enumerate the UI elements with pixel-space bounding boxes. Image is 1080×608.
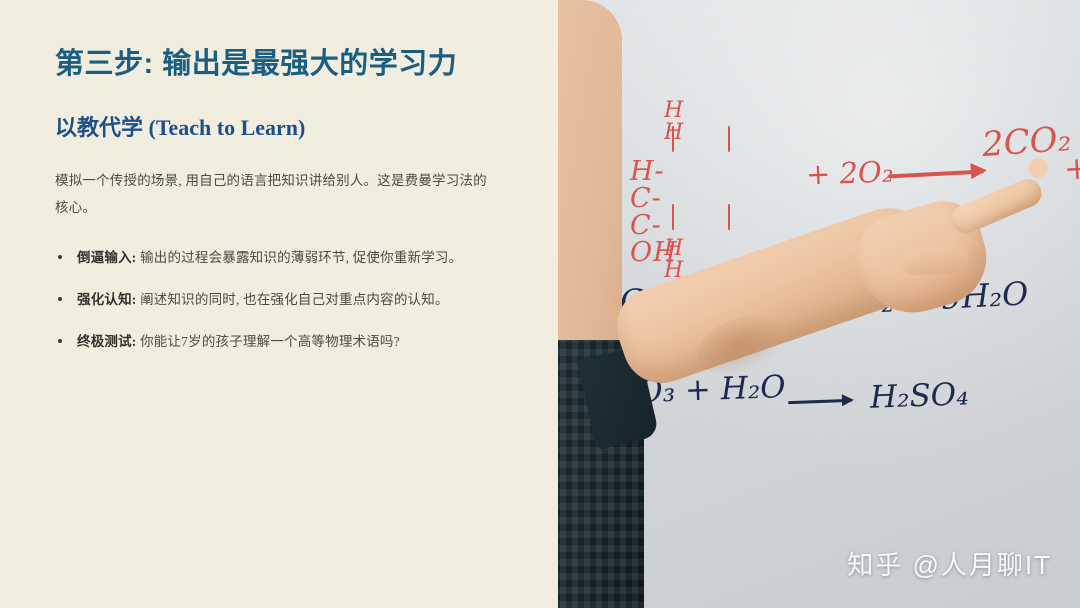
formula-red-reagent: + 2O₂ bbox=[805, 154, 894, 191]
bullet-dot-icon bbox=[58, 255, 62, 259]
page-subtitle: 以教代学 (Teach to Learn) bbox=[55, 114, 518, 143]
bullet-list: 倒逼输入: 输出的过程会暴露知识的薄弱环节, 促使你重新学习。 强化认知: 阐述… bbox=[55, 247, 518, 354]
bullet-dot-icon bbox=[58, 339, 62, 343]
list-item-text: 输出的过程会暴露知识的薄弱环节, 促使你重新学习。 bbox=[137, 250, 463, 265]
formula-red-product: 2CO₂ bbox=[981, 119, 1073, 165]
list-item-label: 强化认知: bbox=[77, 292, 137, 307]
text-panel: 第三步: 输出是最强大的学习力 以教代学 (Teach to Learn) 模拟… bbox=[0, 0, 558, 608]
list-item-text: 你能让7岁的孩子理解一个高等物理术语吗? bbox=[137, 334, 400, 349]
list-item-text: 阐述知识的同时, 也在强化自己对重点内容的认知。 bbox=[137, 292, 449, 307]
watermark: 知乎 @人月聊IT bbox=[847, 545, 1052, 582]
formula-red-trailing: + 3 bbox=[1063, 149, 1080, 188]
page-title: 第三步: 输出是最强大的学习力 bbox=[55, 46, 518, 84]
list-item-label: 终极测试: bbox=[77, 334, 137, 349]
list-item: 终极测试: 你能让7岁的孩子理解一个高等物理术语吗? bbox=[55, 331, 518, 354]
lead-paragraph: 模拟一个传授的场景, 用自己的语言把知识讲给别人。这是费曼学习法的核心。 bbox=[55, 168, 495, 221]
list-item: 强化认知: 阐述知识的同时, 也在强化自己对重点内容的认知。 bbox=[55, 289, 518, 312]
person-thumb bbox=[901, 246, 969, 277]
bullet-dot-icon bbox=[58, 297, 62, 301]
list-item-label: 倒逼输入: bbox=[77, 250, 137, 265]
list-item: 倒逼输入: 输出的过程会暴露知识的薄弱环节, 促使你重新学习。 bbox=[55, 247, 518, 270]
formula-blue2-product: H₂SO₄ bbox=[869, 376, 969, 415]
photo-panel: H₂O H H H-C-C-OH H H + 2O₂ 2CO₂ + 3 C O₂… bbox=[558, 0, 1080, 608]
slide-canvas: 第三步: 输出是最强大的学习力 以教代学 (Teach to Learn) 模拟… bbox=[0, 0, 1080, 608]
